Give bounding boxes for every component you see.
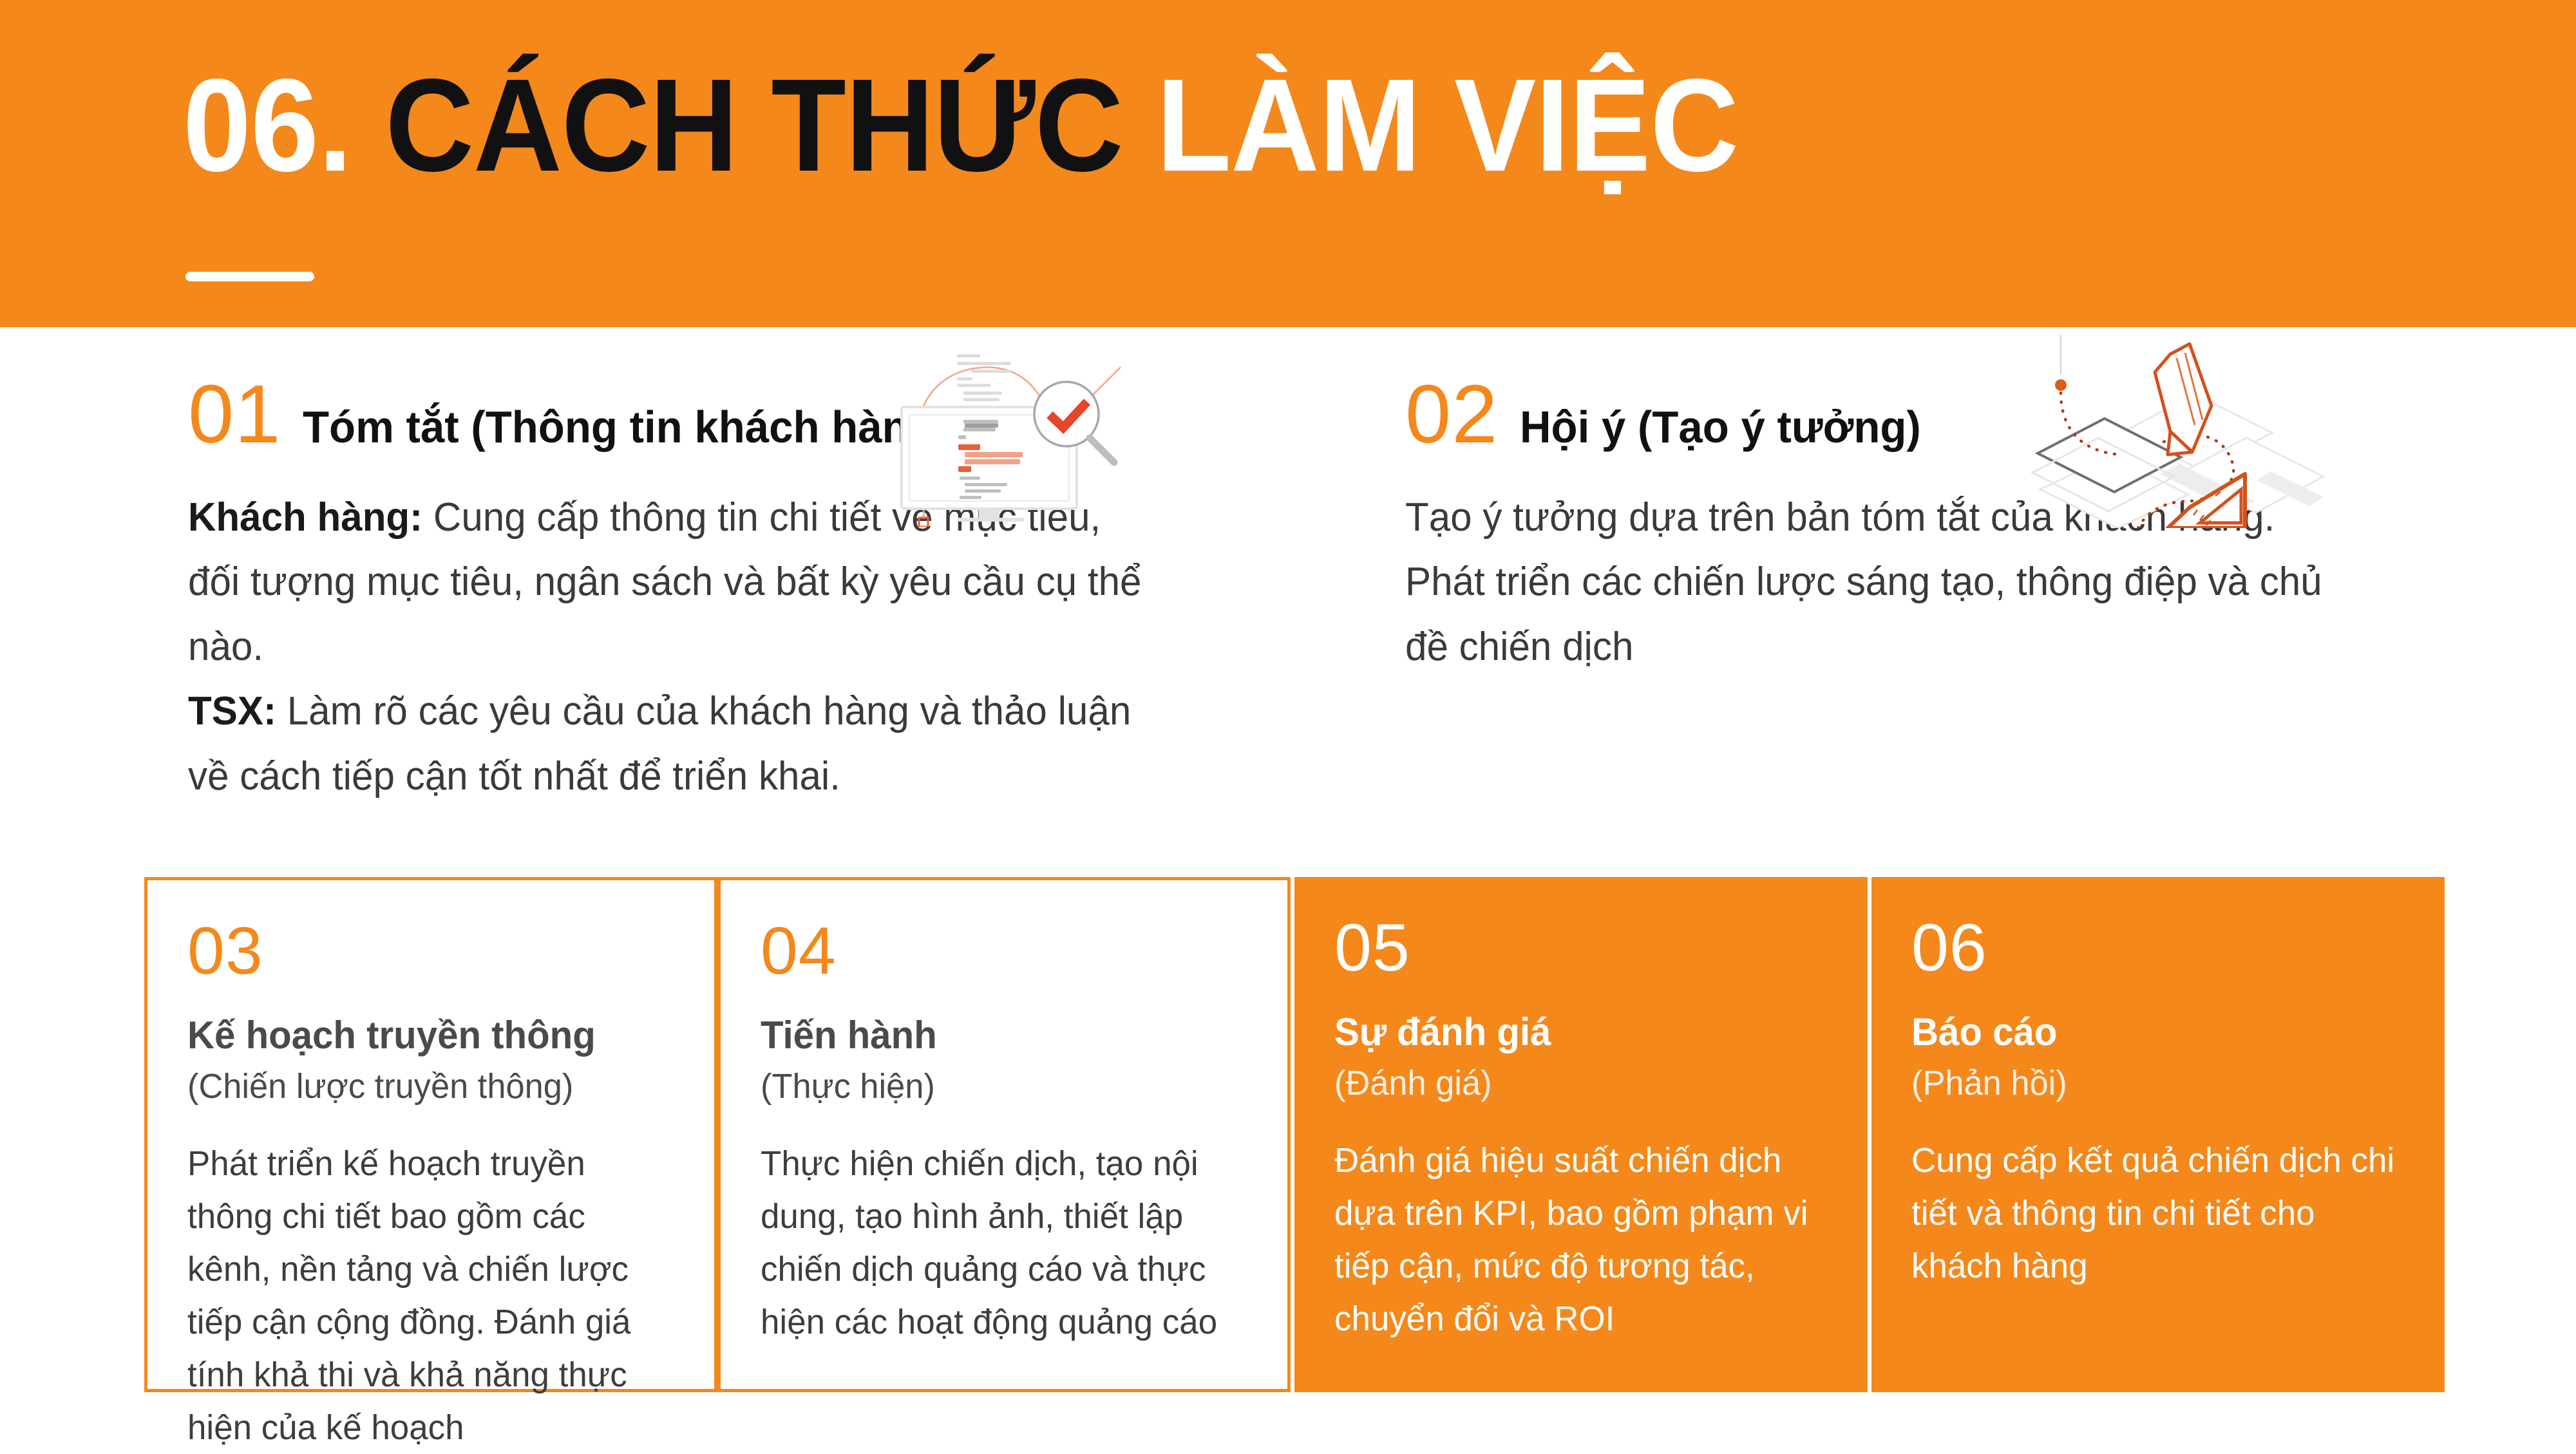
step-01-number: 01 — [188, 373, 281, 456]
card-04-subtitle: (Thực hiện) — [761, 1066, 1243, 1108]
card-03-body: Phát triển kế hoạch truyền thông chi tiế… — [187, 1137, 674, 1454]
step-01-title: Tóm tắt (Thông tin khách hàng) — [303, 404, 949, 449]
card-03-subtitle: (Chiến lược truyền thông) — [187, 1066, 670, 1108]
card-05-subtitle: (Đánh giá) — [1334, 1062, 1823, 1104]
card-03-number: 03 — [187, 918, 685, 985]
step-02-paragraph-2: Phát triển các chiến lược sáng tạo, thôn… — [1405, 550, 2361, 679]
slide-root: 06. CÁCH THỨC LÀM VIỆC 01 Tóm tắt (Thông… — [0, 0, 2576, 1449]
step-02-title: Hội ý (Tạo ý tưởng) — [1520, 404, 1921, 449]
step-01-paragraph-2: TSX: Làm rõ các yêu cầu của khách hàng v… — [188, 679, 1144, 809]
card-05-body: Đánh giá hiệu suất chiến dịch dựa trên K… — [1334, 1134, 1821, 1345]
card-05-title: Sự đánh giá — [1334, 1011, 1823, 1053]
card-06-title: Báo cáo — [1911, 1011, 2400, 1053]
card-06-number: 06 — [1911, 914, 2415, 981]
card-05[interactable]: 05 Sự đánh giá (Đánh giá) Đánh giá hiệu … — [1294, 877, 1868, 1392]
card-03-title: Kế hoạch truyền thông — [187, 1014, 670, 1057]
step-01-body: Khách hàng: Cung cấp thông tin chi tiết … — [188, 486, 1144, 809]
card-04-inner: 04 Tiến hành (Thực hiện) Thực hiện chiến… — [761, 918, 1258, 1348]
title-underline-rule — [185, 272, 314, 281]
card-03[interactable]: 03 Kế hoạch truyền thông (Chiến lược tru… — [144, 877, 717, 1392]
card-04-title: Tiến hành — [761, 1014, 1243, 1057]
monitor-magnifier-check-icon — [881, 340, 1151, 527]
step-01-lead-2: TSX: — [188, 689, 276, 733]
card-04[interactable]: 04 Tiến hành (Thực hiện) Thực hiện chiến… — [717, 877, 1291, 1392]
step-01-lead-1: Khách hàng: — [188, 495, 422, 540]
page-title: 06. CÁCH THỨC LÀM VIỆC — [183, 59, 1738, 191]
card-05-inner: 05 Sự đánh giá (Đánh giá) Đánh giá hiệu … — [1334, 914, 1838, 1345]
card-06[interactable]: 06 Báo cáo (Phản hồi) Cung cấp kết quả c… — [1871, 877, 2445, 1392]
page-title-number: 06. — [183, 52, 352, 199]
card-06-body: Cung cấp kết quả chiến dịch chi tiết và … — [1911, 1134, 2398, 1292]
header-band: 06. CÁCH THỨC LÀM VIỆC — [0, 0, 2576, 327]
card-04-body: Thực hiện chiến dịch, tạo nội dung, tạo … — [761, 1137, 1247, 1348]
card-05-number: 05 — [1334, 914, 1838, 981]
card-06-subtitle: (Phản hồi) — [1911, 1062, 2400, 1104]
card-06-inner: 06 Báo cáo (Phản hồi) Cung cấp kết quả c… — [1911, 914, 2415, 1292]
page-title-dark: CÁCH THỨC — [385, 52, 1122, 199]
step-01-rest-2: Làm rõ các yêu cầu của khách hàng và thả… — [188, 689, 1131, 798]
card-03-inner: 03 Kế hoạch truyền thông (Chiến lược tru… — [187, 918, 685, 1454]
pencil-paper-ruler-icon — [2002, 335, 2336, 528]
step-02-number: 02 — [1405, 373, 1498, 456]
process-cards: 03 Kế hoạch truyền thông (Chiến lược tru… — [144, 877, 2432, 1392]
card-04-number: 04 — [761, 918, 1258, 985]
page-title-light: LÀM VIỆC — [1157, 52, 1738, 199]
